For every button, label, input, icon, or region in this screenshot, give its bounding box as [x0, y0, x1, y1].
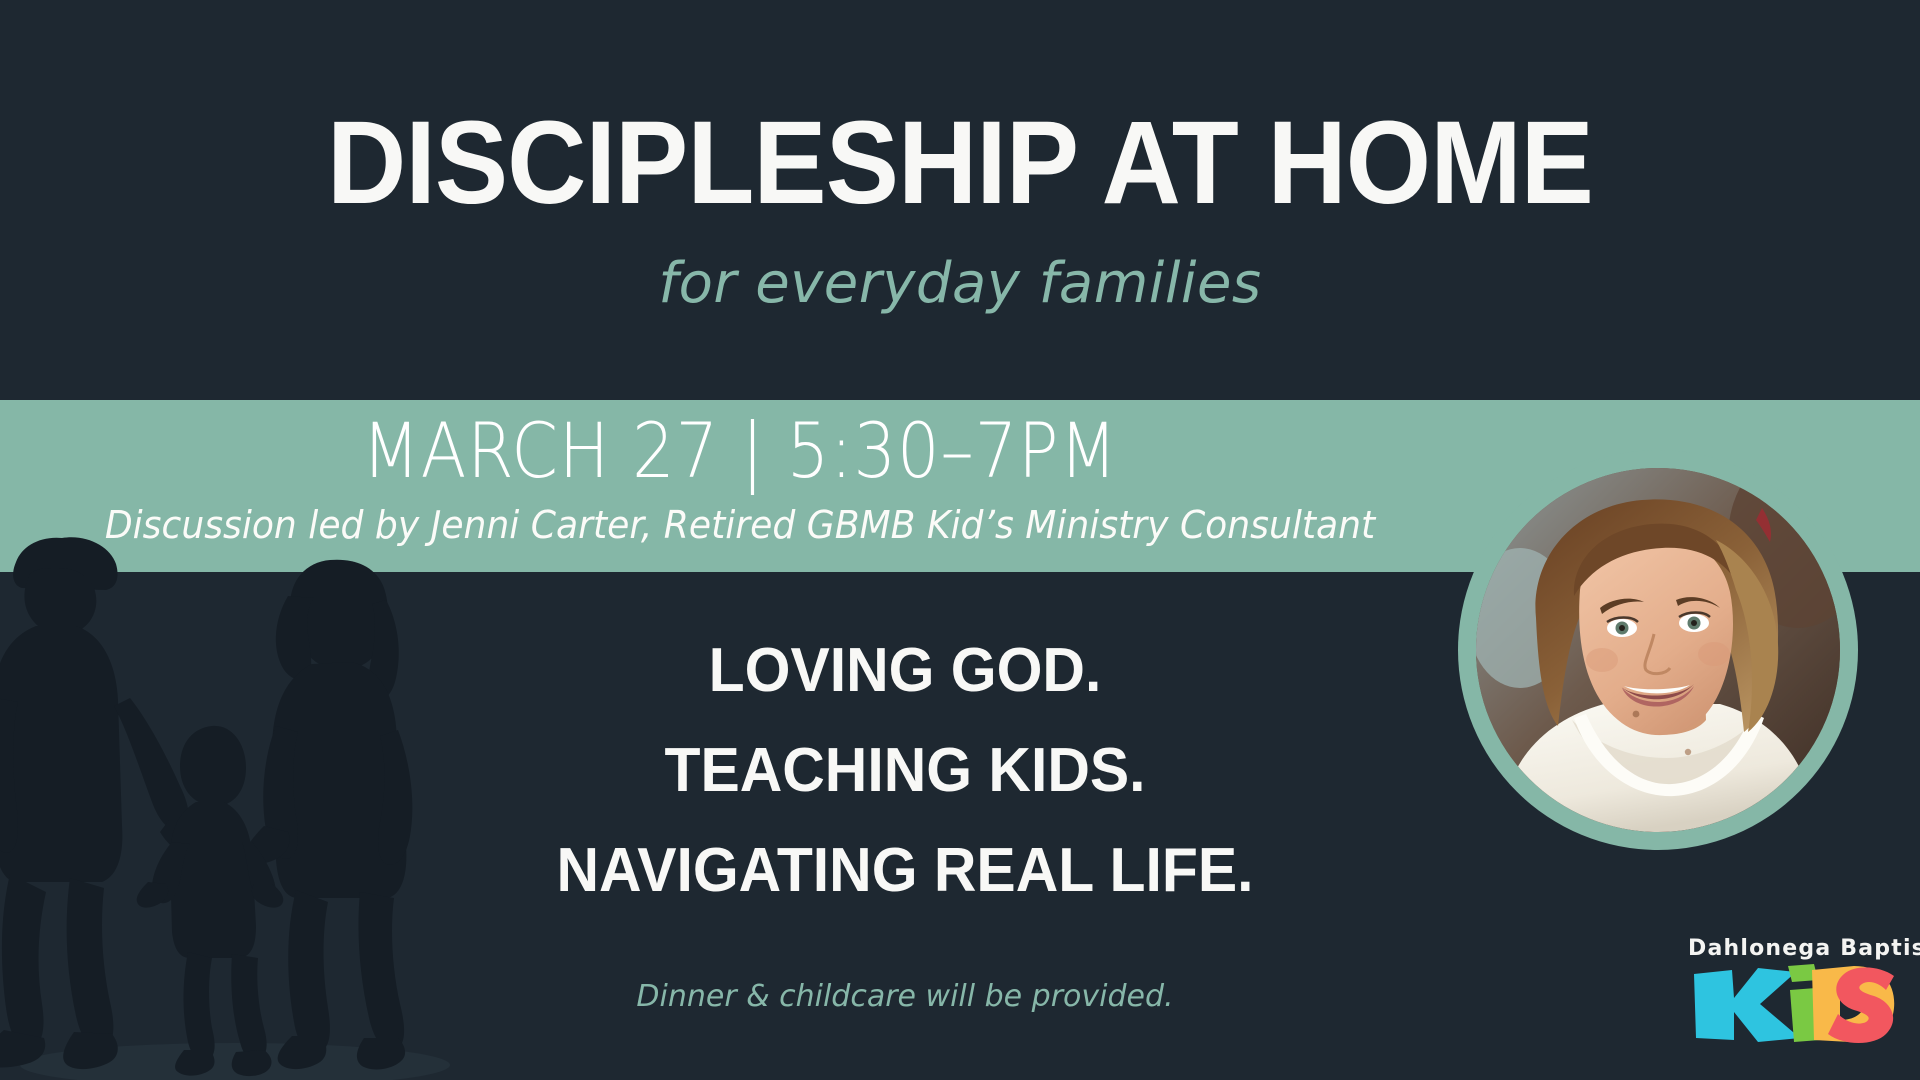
- page-title: DISCIPLESHIP AT HOME: [67, 104, 1853, 222]
- provisions-note: Dinner & childcare will be provided.: [430, 982, 1380, 1012]
- event-date-time: MARCH 27 | 5:30–7PM: [89, 413, 1391, 489]
- tagline-line-2: TEACHING KIDS.: [454, 740, 1357, 802]
- event-leader-line: Discussion led by Jenni Carter, Retired …: [37, 506, 1443, 544]
- brand-logo-toptext: Dahlonega Baptist: [1688, 938, 1900, 960]
- speaker-portrait-ring: [1458, 450, 1858, 850]
- brand-logo-kids-wordmark: [1688, 964, 1900, 1044]
- flyer-canvas: DISCIPLESHIP AT HOME for everyday famili…: [0, 0, 1920, 1080]
- tagline-line-1: LOVING GOD.: [454, 640, 1357, 702]
- tagline-line-3: NAVIGATING REAL LIFE.: [454, 840, 1357, 902]
- logo-letter-k: [1694, 968, 1800, 1042]
- brand-logo: Dahlonega Baptist: [1688, 938, 1900, 1060]
- speaker-portrait-photo: [1476, 468, 1840, 832]
- page-subtitle: for everyday families: [0, 256, 1920, 312]
- header-section: DISCIPLESHIP AT HOME for everyday famili…: [0, 0, 1920, 400]
